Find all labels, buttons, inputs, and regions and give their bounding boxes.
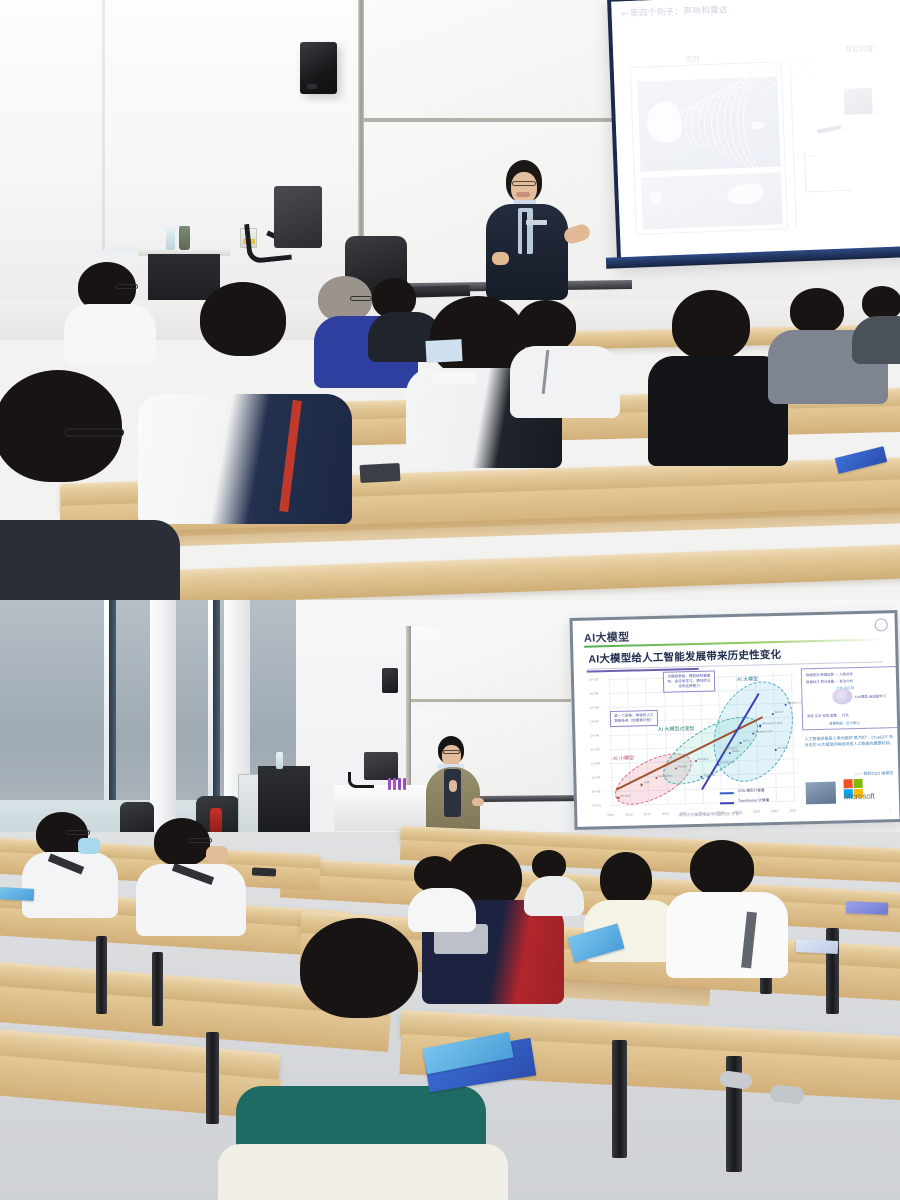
legend-swatch-cnn [720,792,734,794]
wall-speaker-icon [382,668,398,693]
presenter-top [470,160,590,310]
data-point-label: MT-NLG [777,746,788,750]
face-mask [78,838,100,854]
x-tick-label: 2021 [771,809,778,813]
data-point-label: Microsoft T-NLG [762,721,782,725]
glasses-icon [64,428,124,437]
ai-scaling-scatter-chart: 1e+101e+091e+081e+071e+061e+051e+041e+03… [589,673,798,818]
data-point-label: AlexNet [620,793,630,797]
data-point [784,703,786,705]
y-tick-label: 1e+09 [589,691,598,695]
y-tick-label: 1e+02 [592,789,601,793]
data-point-label: GPT-2 [743,738,751,742]
gridline-v [791,673,795,801]
nadella-photo [806,782,837,805]
data-point [655,777,657,779]
presenter-hand-right [472,798,484,806]
podium-monitor [364,752,398,780]
desk-leg-4 [612,1040,627,1158]
aircraft-icon [817,125,841,134]
y-tick-label: 1e+10 [589,677,598,681]
water-bottle [276,752,283,769]
cluster-label-small: AI 小模型 [613,755,634,763]
desk-leg-6 [152,952,163,1026]
university-logo-icon [875,618,888,631]
mechanism-box: 数据驱动 数据监督 — 人脑启发 数据标注 算法拓展 — 算法分析 迁移 多应用… [801,666,898,730]
legend-label-cnn: CNN 模型计算量 [738,788,765,794]
presenter-left-hand [492,252,509,265]
glasses-icon [66,830,90,835]
glasses-icon [443,750,460,754]
data-point [641,784,643,786]
mech-line-5: 语音 文本 视觉 图像 … 任务 [807,712,849,718]
nadella-quote: 人工智能就像是人类大脑的"蒸汽机"，ChatGPT 所对应的 AI大模型的输出将… [804,734,896,748]
y-tick-label: 1e+06 [590,733,599,737]
projection-screen-top: ⌐第四个例子：声呐和雷达 实例 背后机理 蝙蝠回声定位 [607,0,900,264]
slide-bottom: AI大模型 AI大模型给人工智能发展带来历史性变化 1e+101e+091e+0… [576,616,897,824]
radar-cube-icon [844,88,873,115]
data-point [695,760,697,762]
hand-on-chin [206,846,228,864]
whiteboard-panel-upper [411,626,571,702]
bat-echolocation-image: 蝙蝠回声定位 [637,76,780,171]
data-point-label: Inception [698,757,709,761]
data-point-label: Seq2Seq [703,772,715,776]
data-point-label: GPT-3 [775,710,783,714]
jacket-logo [526,220,547,225]
x-tick-label: 2015 [662,812,669,816]
presenter-vest [444,769,461,817]
y-tick-label: 1e+07 [590,719,599,723]
cluster-label-large: AI 大模型 [737,675,758,683]
shoe-2 [769,1084,805,1104]
y-tick-label: 1e+01 [592,803,601,807]
quote-attribution: —— 微软CEO 纳德拉 [854,770,893,777]
slide-right-panel: 数据驱动 数据监督 — 人脑启发 数据标注 算法拓展 — 算法分析 迁移 多应用… [801,666,900,818]
dolphin-echolocation-image [641,172,783,229]
jacket-zipper [522,212,527,254]
callout-big-model: 大模型参数、模型结构更复杂、多任务学习、更好的泛化和迁移能力 [663,671,715,693]
glasses-icon [116,284,138,289]
data-point-label: VGG [644,780,650,784]
microsoft-logo: Microsoft [843,778,896,805]
y-tick-label: 1e+08 [590,705,599,709]
microsoft-wordmark: Microsoft [844,792,875,802]
booklet-far-desk [846,901,888,914]
y-tick-label: 1e+05 [591,747,600,751]
phone-on-desk [360,463,401,483]
projection-screen-bottom: AI大模型 AI大模型给人工智能发展带来历史性变化 1e+101e+091e+0… [569,610,900,830]
paper-mid-desk [796,939,839,954]
x-tick-label: 2014 [644,812,651,816]
cluster-label-transition: AI 大模型过渡型 [658,725,694,733]
data-point-label: GoogLeNet [658,773,672,777]
structural-column-1 [150,600,176,835]
wall-seam [102,0,105,250]
presenter-hand [449,780,457,792]
storage-cabinet [258,766,310,838]
title-dash: ⌐ [621,8,627,18]
slide-title-group: AI大模型 [584,629,630,646]
data-point-label: Wu Dao 2.0 [787,700,802,704]
data-point [617,796,619,798]
phone-on-desk [252,867,276,876]
data-point-label: BERT [732,748,740,752]
marker-pens[interactable] [388,778,410,790]
slide-footer: 清华大学集成电路学院副院长 尹首一 [678,811,743,819]
legend-label-transformer: Transformer 计算量 [738,798,769,804]
fire-extinguisher [210,808,222,834]
whiteboard-panel-upper [364,0,624,122]
mech-line-4: AI大模型 自监督学习 [854,693,885,699]
y-tick-label: 1e+04 [591,761,600,765]
callout-small-model: 某一个具体、单独的人工智能任务（如图像识别） [610,710,658,727]
slide-top-right-card: Cost [790,56,900,228]
data-point-label: Megatron-LM [755,729,772,733]
paper-on-desk [432,371,476,385]
data-point-label: ResNet [678,764,687,768]
brain-icon [832,688,852,704]
glasses-icon [512,181,536,186]
thermos-cup [179,226,190,250]
water-bottle [166,228,175,250]
fish-silhouette [649,191,662,205]
x-tick-label: 2013 [625,813,632,817]
data-point [752,732,754,734]
x-tick-label: 2012 [607,813,614,817]
mech-line-2: 数据标注 算法拓展 — 算法分析 [806,678,853,684]
lecture-photo-top: ⌐第四个例子：声呐和雷达 实例 背后机理 蝙蝠回声定位 [0,0,900,600]
paper-stack [104,245,138,254]
slide-top-left-heading: 实例 [685,54,699,65]
slide-title: AI大模型 [584,629,630,646]
presenter-mouth [516,192,530,197]
desk-leg-5 [96,936,107,1014]
y-tick-label: 1e+03 [591,775,600,779]
legend-swatch-transformer [720,802,734,804]
x-tick-label: 2022 [789,809,796,813]
x-tick-label: 2020 [753,809,760,813]
gridline-v [609,677,613,805]
lecture-photo-bottom: AI大模型 AI大模型给人工智能发展带来历史性变化 1e+101e+091e+0… [0,600,900,1200]
photo-pair-page: ⌐第四个例子：声呐和雷达 实例 背后机理 蝙蝠回声定位 [0,0,900,1200]
dolphin-silhouette [727,183,764,204]
desk-leg-7 [206,1032,219,1124]
vest-outer [218,1144,508,1200]
slide-top-left-card: 蝙蝠回声定位 [630,61,788,235]
slide-top-right-heading: 背后机理 [845,44,873,55]
window-mullion-2 [213,600,220,814]
podium-monitor [274,186,322,248]
wall-speaker-icon [300,42,337,94]
slide-top-title: ⌐第四个例子：声呐和雷达 [621,0,893,19]
mini-chart: Cost [804,151,852,193]
slide-top: ⌐第四个例子：声呐和雷达 实例 背后机理 蝙蝠回声定位 [611,0,900,260]
glasses-icon [188,838,212,843]
image-caption-1: 蝙蝠回声定位 [644,163,662,168]
window-mullion-1 [109,600,116,814]
data-point [675,767,677,769]
title-text: 第四个例子：声呐和雷达 [630,4,728,18]
slide-page-number: 7 [889,809,891,813]
mini-chart-label: Cost [808,154,814,158]
glasses-icon [350,296,372,301]
window-blind-1[interactable] [0,600,104,800]
mech-line-1: 数据驱动 数据监督 — 人脑启发 [806,671,853,677]
data-point-label: Transformer [720,760,735,764]
presenter-bottom [424,736,490,840]
booklet-left-desk [0,887,34,901]
mech-line-6: 海量数据、巨大算力 [829,720,860,726]
notebook-on-desk [425,339,462,363]
